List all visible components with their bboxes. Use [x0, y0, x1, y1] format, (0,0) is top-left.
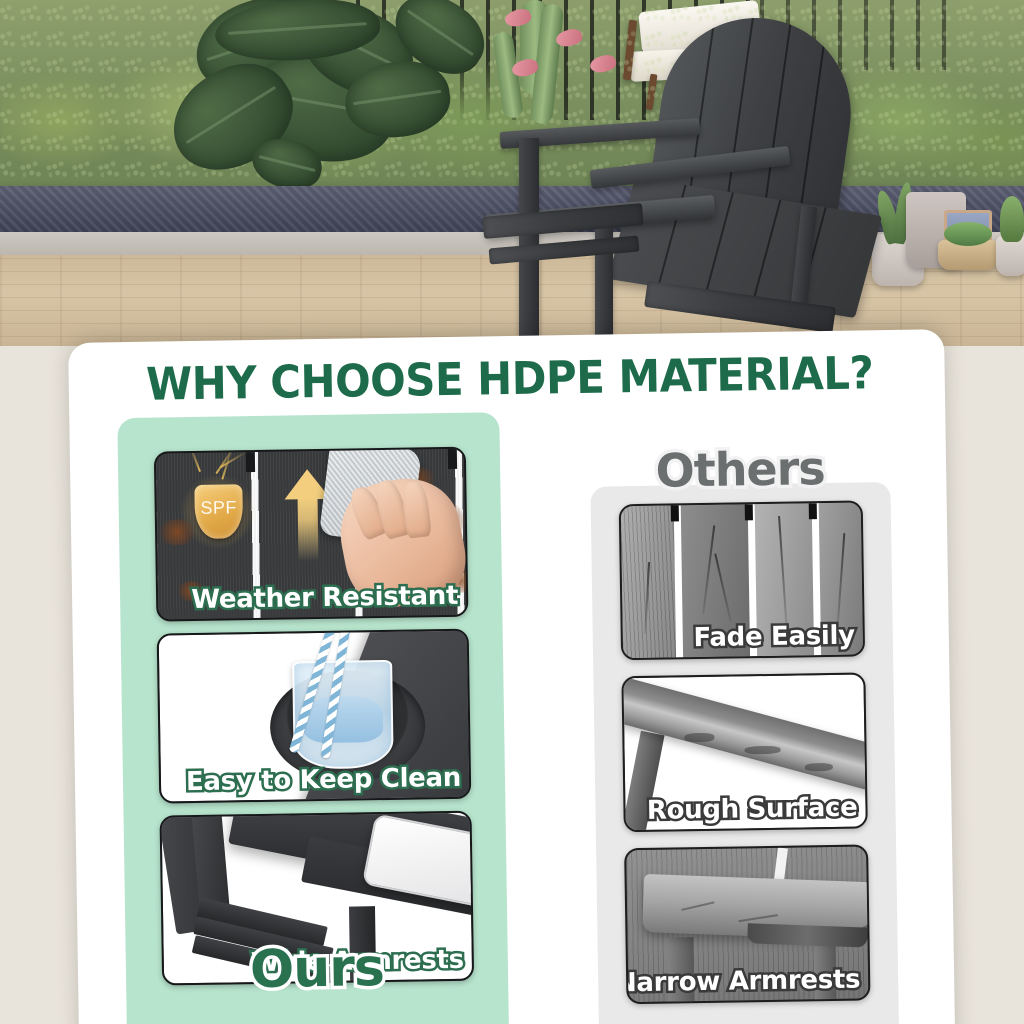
plant-pot — [996, 236, 1024, 276]
infographic-page: WHY CHOOSE HDPE MATERIAL? SPF — [0, 0, 1024, 1024]
others-tile-fade-easily[interactable]: Fade Easily — [619, 500, 865, 660]
chair-front-leg — [519, 138, 539, 338]
others-heading: Others — [590, 440, 891, 499]
slat-notch — [745, 504, 753, 520]
spf-label: SPF — [200, 497, 237, 519]
ours-heading: Ours — [126, 936, 509, 1002]
herb-foliage-icon — [944, 222, 992, 246]
others-tile-rough-surface[interactable]: Rough Surface — [621, 672, 867, 832]
tile-caption: Easy to Keep Clean — [186, 763, 461, 797]
tile-caption: Narrow Armrests — [624, 965, 860, 999]
slat-notch — [448, 449, 457, 469]
tile-caption: Rough Surface — [647, 793, 858, 826]
hero-photo — [0, 0, 1024, 346]
others-tile-narrow-armrests[interactable]: Narrow Armrests — [624, 844, 870, 1004]
slat-notch — [809, 503, 817, 519]
tile-caption: Fade Easily — [693, 621, 855, 654]
hdpe-comparison-card: WHY CHOOSE HDPE MATERIAL? SPF — [68, 329, 956, 1024]
tile-caption: Weather Resistant — [191, 581, 458, 615]
ours-tile-weather-resistant[interactable]: SPF Weather Resistant — [154, 447, 469, 622]
rosemary-icon — [1000, 196, 1024, 242]
page-title: WHY CHOOSE HDPE MATERIAL? — [123, 346, 896, 411]
wood-chip — [745, 746, 781, 755]
ours-tile-easy-to-keep-clean[interactable]: Easy to Keep Clean — [157, 629, 472, 804]
spf-shield-icon: SPF — [194, 484, 243, 539]
water-level — [303, 696, 384, 743]
slat-notch — [671, 505, 679, 521]
wood-chip — [684, 733, 714, 742]
slat-notch — [246, 452, 255, 472]
wood-chip — [805, 763, 833, 771]
adirondack-chair — [495, 10, 915, 340]
